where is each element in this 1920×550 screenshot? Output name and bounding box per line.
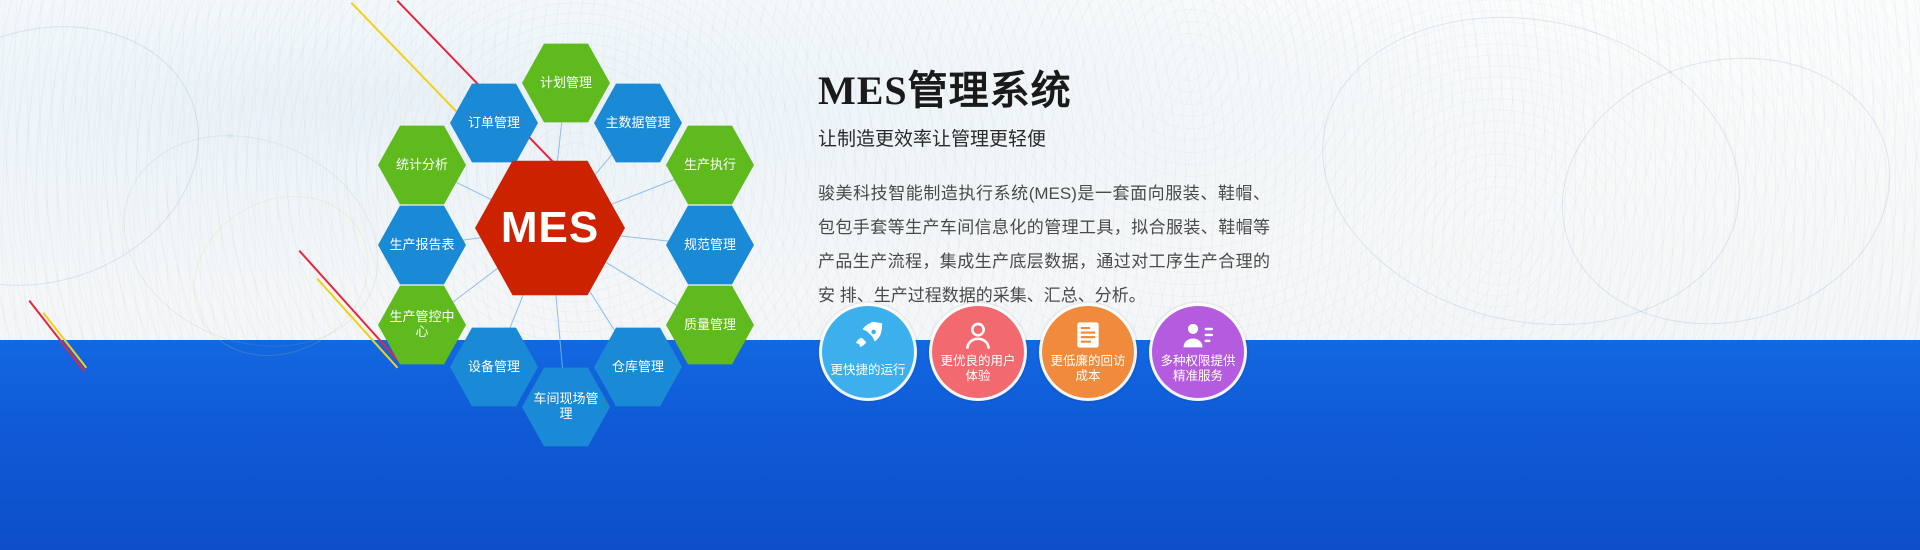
diagram-center-label: MES [495,203,605,254]
badge-label: 更低廉的回访成本 [1045,354,1131,384]
badge-precise-service[interactable]: 多种权限提供精准服务 [1152,306,1244,398]
diagram-node-workshop-site-management[interactable]: 车间现场管理 [522,366,610,448]
badge-label: 多种权限提供精准服务 [1155,354,1241,384]
diagram-node-statistical-analysis[interactable]: 统计分析 [378,124,466,206]
diagram-node-production-control-center[interactable]: 生产管控中心 [378,284,466,366]
feature-badges: 更快捷的运行更优良的用户体验更低廉的回访成本多种权限提供精准服务 [822,306,1244,398]
diagram-node-order-management[interactable]: 订单管理 [450,82,538,164]
users-icon [1152,319,1244,353]
diagram-node-label: 规范管理 [678,238,742,253]
diagram-node-production-execution[interactable]: 生产执行 [666,124,754,206]
badge-label: 更快捷的运行 [825,363,911,378]
page-description: 骏美科技智能制造执行系统(MES)是一套面向服装、鞋帽、包包手套等生产车间信息化… [818,177,1270,313]
banner-copy: MES管理系统 让制造更效率让管理更轻便 骏美科技智能制造执行系统(MES)是一… [818,58,1288,313]
diagram-center-node[interactable]: MES [475,158,625,298]
diagram-node-label: 生产执行 [678,158,742,173]
diagram-node-production-report[interactable]: 生产报告表 [378,204,466,286]
diagram-node-label: 统计分析 [390,158,454,173]
list-icon [1042,319,1134,351]
diagram-node-warehouse-management[interactable]: 仓库管理 [594,326,682,408]
badge-label: 更优良的用户体验 [935,354,1021,384]
diagram-node-quality-management[interactable]: 质量管理 [666,284,754,366]
page-subtitle: 让制造更效率让管理更轻便 [818,124,1288,151]
diagram-node-label: 仓库管理 [606,360,670,375]
page-title: MES管理系统 [818,58,1288,116]
diagram-node-label: 设备管理 [462,360,526,375]
diagram-node-label: 生产管控中心 [378,310,466,340]
diagram-node-label: 质量管理 [678,318,742,333]
mes-hex-diagram: 计划管理订单管理主数据管理统计分析生产执行生产报告表规范管理生产管控中心质量管理… [330,18,770,438]
user-icon [932,319,1024,353]
diagram-node-standard-management[interactable]: 规范管理 [666,204,754,286]
diagram-node-label: 计划管理 [534,76,598,91]
diagram-node-label: 主数据管理 [599,116,676,131]
diagram-node-label: 车间现场管理 [522,392,610,422]
badge-better-experience[interactable]: 更优良的用户体验 [932,306,1024,398]
mes-banner: 计划管理订单管理主数据管理统计分析生产执行生产报告表规范管理生产管控中心质量管理… [0,0,1920,550]
badge-faster-operation[interactable]: 更快捷的运行 [822,306,914,398]
diagram-node-label: 生产报告表 [383,238,460,253]
rocket-icon [822,319,914,353]
diagram-node-master-data-management[interactable]: 主数据管理 [594,82,682,164]
badge-lower-cost[interactable]: 更低廉的回访成本 [1042,306,1134,398]
diagram-node-plan-management[interactable]: 计划管理 [522,42,610,124]
diagram-node-label: 订单管理 [462,116,526,131]
diagram-node-equipment-management[interactable]: 设备管理 [450,326,538,408]
